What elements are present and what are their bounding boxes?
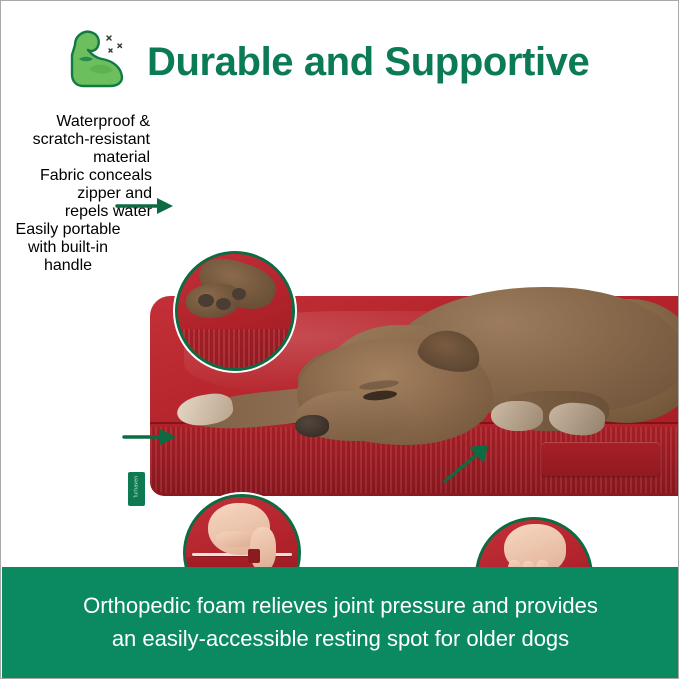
sparkle-icon — [107, 36, 122, 52]
callout-portable: Easily portable with built-in handle — [2, 221, 134, 275]
callout-line: with built-in — [2, 239, 134, 257]
dog-rear-paw-far — [548, 401, 606, 437]
callout-line: scratch-resistant — [2, 131, 150, 149]
inset-waterproof-material — [175, 251, 295, 371]
product-photo: furhaven — [2, 113, 679, 567]
finger — [508, 560, 521, 567]
arrow-right-icon — [115, 195, 177, 217]
callout-line: Easily portable — [2, 221, 134, 239]
callout-line: Fabric conceals — [2, 167, 152, 185]
finger — [536, 560, 549, 567]
header: Durable and Supportive — [1, 1, 679, 113]
footer-text: Orthopedic foam relieves joint pressure … — [2, 589, 679, 655]
inset-built-in-handle — [475, 517, 593, 567]
flexed-biceps-icon — [65, 25, 137, 89]
product-infographic-card: Durable and Supportive furhaven — [0, 0, 679, 679]
brand-tag-label: furhaven — [134, 481, 140, 498]
page-title: Durable and Supportive — [147, 34, 657, 90]
dog-nose — [295, 415, 329, 437]
zipper-pull — [248, 549, 260, 563]
paw-pad — [232, 288, 246, 300]
inset-rib-texture — [178, 329, 292, 368]
brand-tag: furhaven — [128, 472, 145, 506]
footer-line: an easily-accessible resting spot for ol… — [2, 622, 679, 655]
callout-line: handle — [2, 257, 134, 275]
arrow-right-icon — [122, 426, 180, 448]
callout-line: Waterproof & — [2, 113, 150, 131]
callout-waterproof: Waterproof & scratch-resistant material — [2, 113, 150, 167]
zipper-flap — [186, 557, 298, 567]
footer-banner: Orthopedic foam relieves joint pressure … — [2, 567, 679, 679]
inset-concealed-zipper — [183, 494, 301, 567]
arrow-up-right-icon — [442, 443, 492, 485]
callout-line: material — [2, 149, 150, 167]
paw-pad — [198, 294, 214, 307]
paw-pad — [216, 298, 231, 310]
footer-line: Orthopedic foam relieves joint pressure … — [2, 589, 679, 622]
dog-rear-paw — [491, 401, 543, 431]
